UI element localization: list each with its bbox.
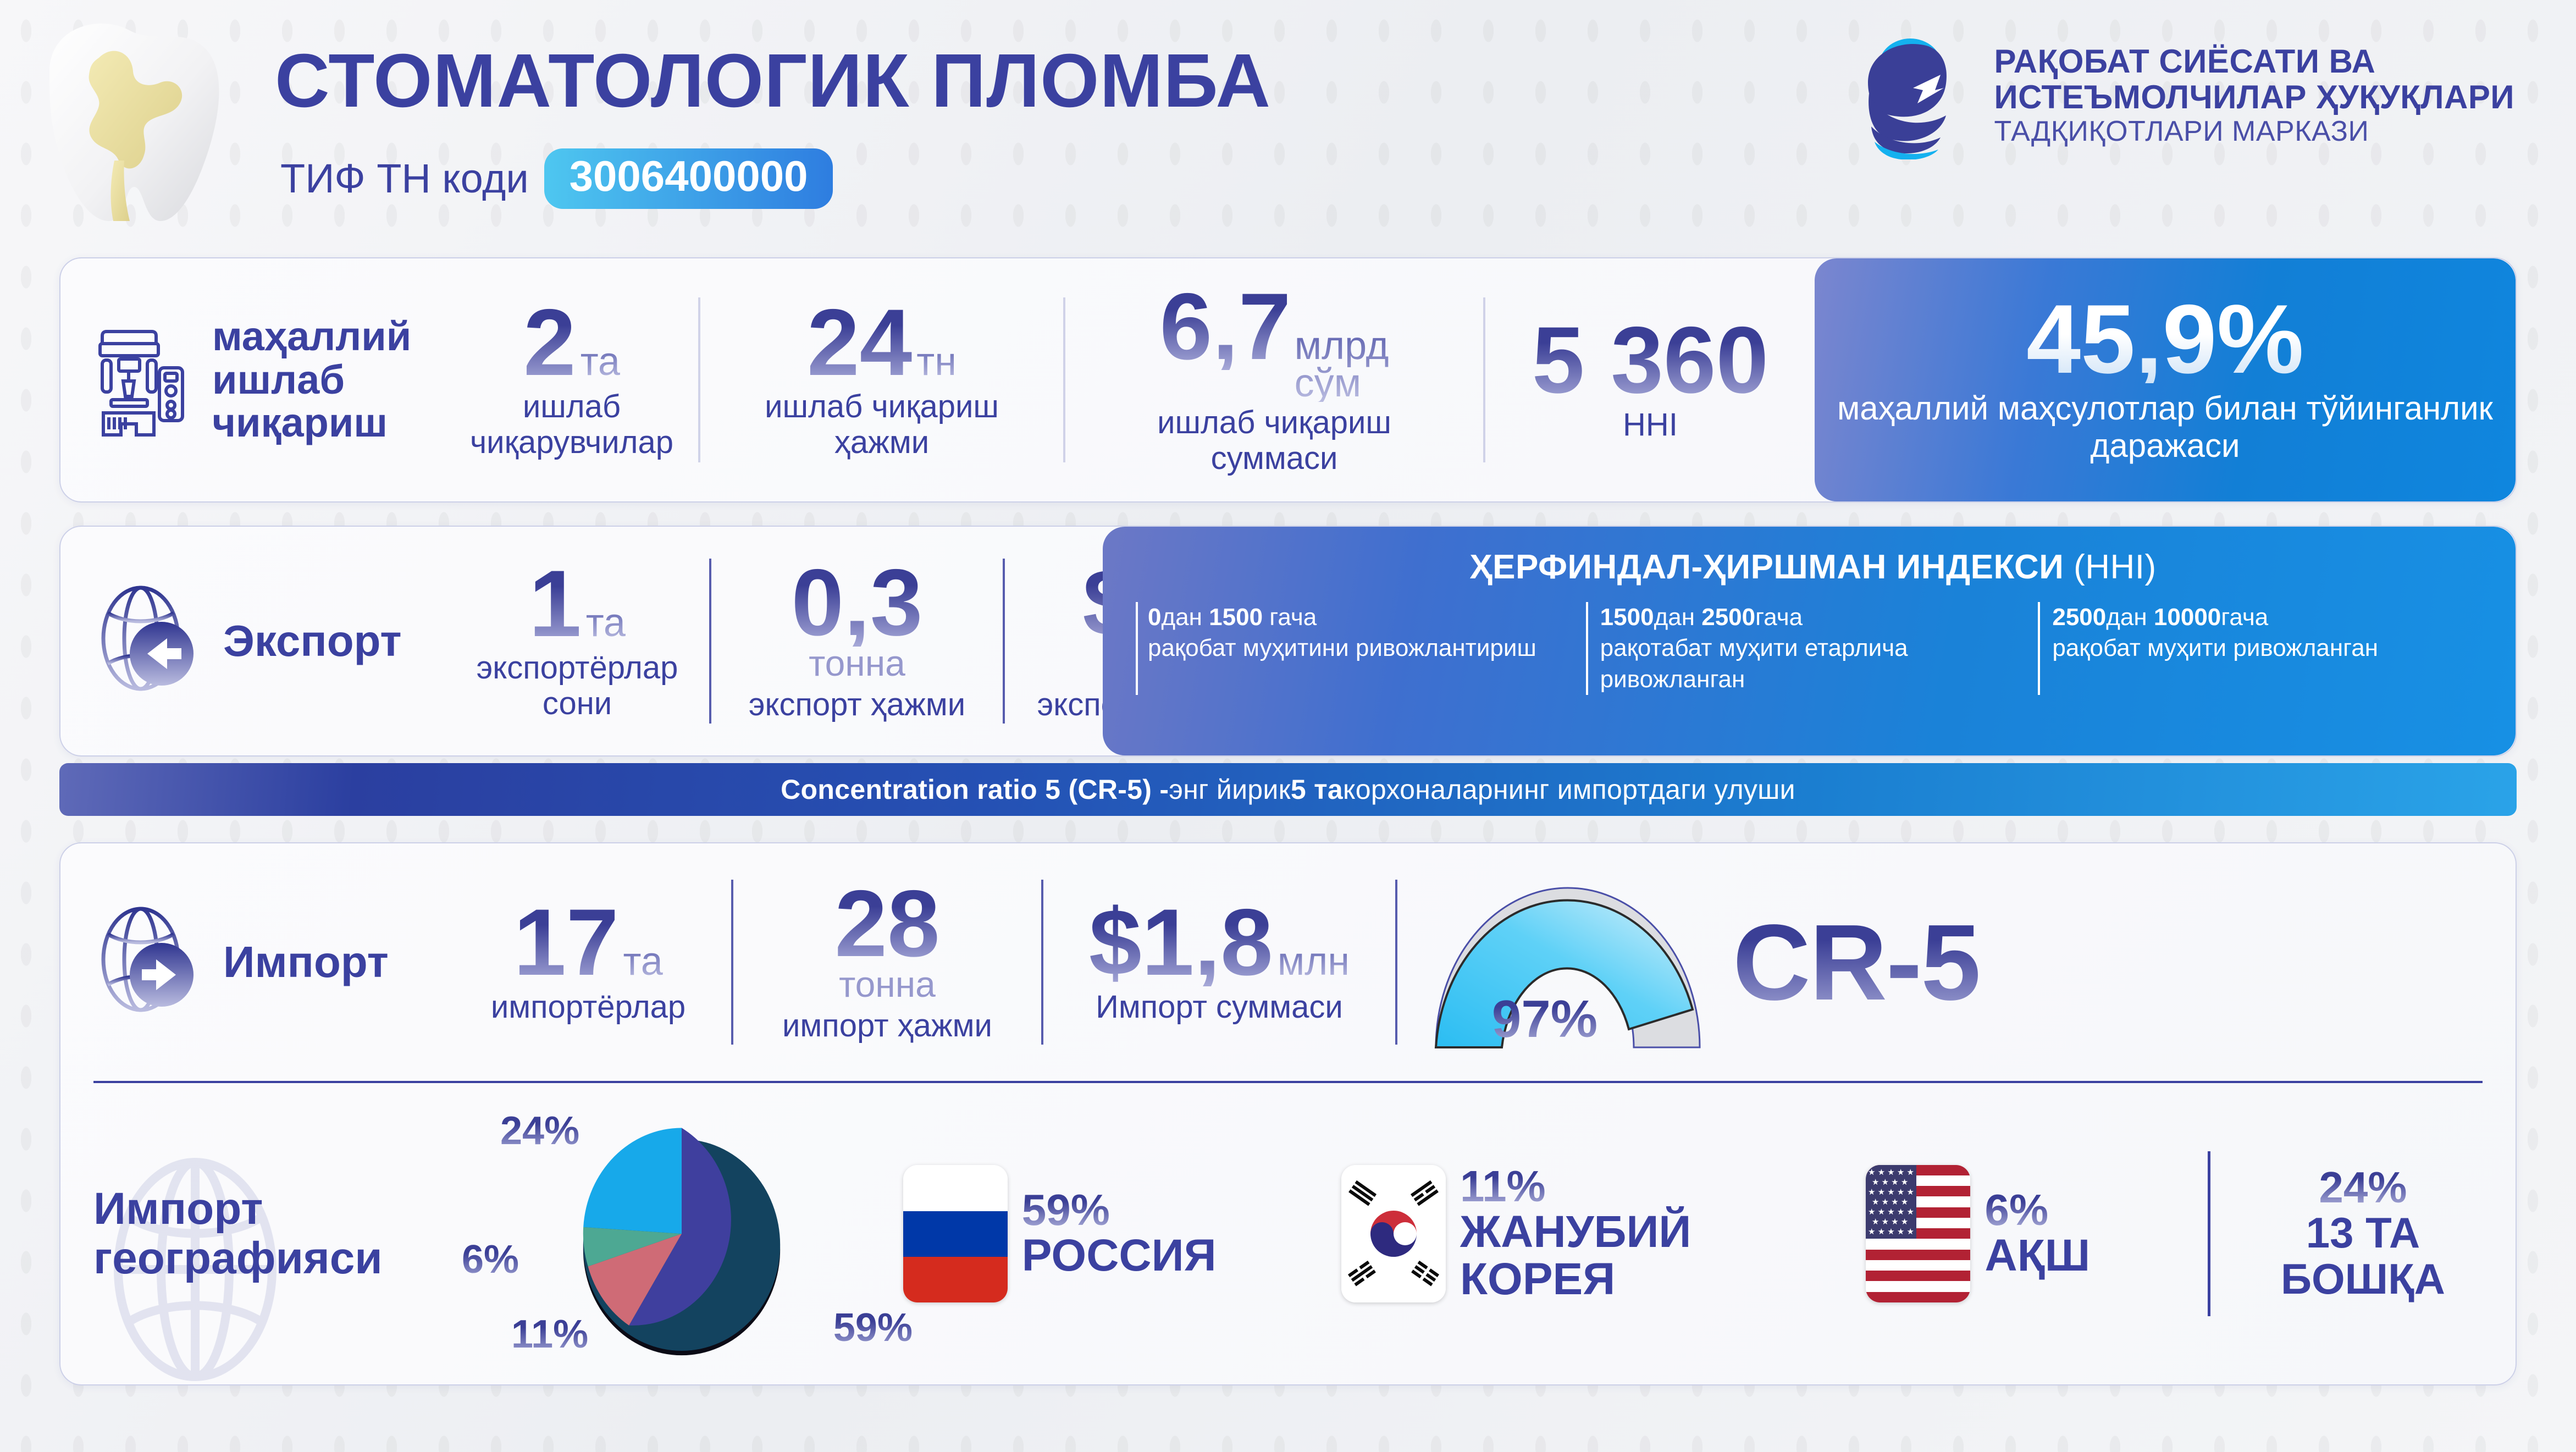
export-label: Экспорт <box>223 618 402 665</box>
globe-import-arrow-icon <box>95 904 204 1020</box>
divider <box>1483 297 1485 462</box>
saturation-value: 45,9% <box>2026 295 2304 383</box>
stat-export-volume: 0,3 тонна экспорт ҳажми <box>711 527 1003 755</box>
stat-prod-volume-unit: тн <box>916 344 957 380</box>
cr5-gauge: 97% <box>1419 871 1716 1053</box>
code-badge: 3006400000 <box>544 148 833 209</box>
svg-text:★ ★ ★ ★ ★: ★ ★ ★ ★ ★ <box>1868 1227 1914 1236</box>
pie-label-6: 6% <box>462 1237 519 1282</box>
russia-flag-icon <box>903 1165 1008 1302</box>
cr5-gauge-label: CR-5 <box>1733 901 1980 1024</box>
pie-label-24: 24% <box>500 1108 579 1153</box>
hhi-range-0-from: 0 <box>1148 604 1161 631</box>
stat-import-volume: 28 тонна импорт ҳажми <box>733 843 1041 1081</box>
svg-text:★ ★ ★ ★ ★: ★ ★ ★ ★ ★ <box>1868 1188 1914 1197</box>
stat-prod-sum: 6,7 млрд сўм ишлаб чиқариш суммаси <box>1065 258 1483 501</box>
divider <box>709 559 711 724</box>
import-label: Импорт <box>223 939 389 986</box>
stat-importers-unit: та <box>623 943 663 980</box>
hhi-legend-title-main: ҲЕРФИНДАЛ-ҲИРШМАН ИНДЕКСИ <box>1469 548 2064 586</box>
divider <box>731 880 733 1045</box>
stat-prod-sum-value: 6,7 <box>1159 283 1291 370</box>
page-title: СТОМАТОЛОГИК ПЛОМБА <box>275 43 1271 119</box>
cr5-gauge-value: 97% <box>1419 989 1670 1050</box>
code-label: ТИФ ТН коди <box>280 155 529 202</box>
import-label-block: Импорт <box>60 843 445 1081</box>
russia-percent: 59% <box>1022 1188 1217 1232</box>
cr5-banner-mid: энг йирик <box>1169 774 1290 805</box>
stat-importers-value: 17 <box>513 899 618 986</box>
cr5-banner-tail: корхоналарнинг импортдаги улуши <box>1343 774 1795 805</box>
geography-row: Импорт географияси <box>60 1083 2516 1384</box>
stat-importers-caption: импортёрлар <box>491 990 686 1025</box>
stat-prod-sum-unit: млрд <box>1295 327 1389 365</box>
stat-export-volume-unit: тонна <box>809 643 905 684</box>
stat-export-volume-caption: экспорт ҳажми <box>749 687 965 723</box>
brand-line-3: ТАДҚИҚОТЛАРИ МАРКАЗИ <box>1994 115 2514 148</box>
south-korea-name: ЖАНУБИЙ КОРЕЯ <box>1460 1208 1696 1303</box>
other-label: БОШҚА <box>2281 1256 2445 1302</box>
hhi-range-1-to: 2500 <box>1701 604 1755 631</box>
production-machine-icon <box>95 319 194 440</box>
brand-line-1: РАҚОБАТ СИЁСАТИ ВА <box>1994 44 2514 80</box>
stat-producers-value: 2 <box>523 299 576 386</box>
stat-prod-sum-unit2: сўм <box>1295 365 1389 402</box>
export-label-block: Экспорт <box>60 527 445 755</box>
stat-import-volume-caption: импорт ҳажми <box>782 1008 992 1044</box>
hhi-legend-title: ҲЕРФИНДАЛ-ҲИРШМАН ИНДЕКСИ (HHI) <box>1469 548 2156 587</box>
import-top-row: Импорт 17 та импортёрлар 28 тонна импорт… <box>60 843 2516 1081</box>
stat-producers: 2 та ишлаб чиқарувчилар <box>445 258 698 501</box>
country-russia: 59% РОССИЯ <box>830 1165 1289 1302</box>
hhi-range-2-desc: рақобат муҳити ривожланган <box>2052 633 2478 664</box>
cr5-banner-bold2: 5 та <box>1291 774 1343 805</box>
saturation-caption: маҳаллий маҳсулотлар билан тўйинганлик д… <box>1837 390 2494 465</box>
geography-title-line-1: Импорт <box>93 1184 383 1234</box>
country-south-korea: 11% ЖАНУБИЙ КОРЕЯ <box>1289 1164 1748 1303</box>
stat-exporters: 1 та экспортёрлар сони <box>445 527 709 755</box>
other-countries-block: 24% 13 ТА БОШҚА <box>2208 1151 2516 1316</box>
production-label-line-2: ишлаб <box>212 358 411 401</box>
stat-prod-volume-value: 24 <box>807 299 912 386</box>
production-label-line-3: чиқариш <box>212 401 411 444</box>
brand-line-2: ИСТЕЪМОЛЧИЛАР ҲУҚУҚЛАРИ <box>1994 80 2514 115</box>
stat-import-volume-value: 28 <box>834 880 939 967</box>
stat-prod-volume-caption: ишлаб чиқариш ҳажми <box>765 389 999 461</box>
usa-name: АҚШ <box>1984 1232 2090 1279</box>
divider <box>1041 880 1043 1045</box>
brand: РАҚОБАТ СИЁСАТИ ВА ИСТЕЪМОЛЧИЛАР ҲУҚУҚЛА… <box>1858 33 2514 159</box>
hhi-legend-title-abbr: (HHI) <box>2074 548 2157 586</box>
stat-hhi-value: 5 360 <box>1532 317 1768 404</box>
pie-label-59: 59% <box>833 1305 913 1350</box>
hhi-range-0-mid: дан <box>1161 604 1209 631</box>
production-label-line-1: маҳаллий <box>212 315 411 358</box>
hhi-range-0-to: 1500 <box>1209 604 1263 631</box>
stat-import-volume-unit: тонна <box>839 964 936 1005</box>
pie-chart-svg <box>563 1116 800 1352</box>
export-cells: Экспорт 1 та экспортёрлар сони 0,3 тонна… <box>60 527 2516 755</box>
stat-exporters-unit: та <box>586 605 626 641</box>
infographic-page: СТОМАТОЛОГИК ПЛОМБА ТИФ ТН коди 30064000… <box>0 0 2576 1452</box>
geography-title-line-2: географияси <box>93 1234 383 1283</box>
hhi-range-2-to: 10000 <box>2154 604 2221 631</box>
svg-text:★ ★ ★ ★: ★ ★ ★ ★ <box>1872 1217 1908 1227</box>
stat-export-volume-value: 0,3 <box>791 559 922 646</box>
hhi-range-0-suffix: гача <box>1263 604 1317 631</box>
hhi-range-1: 1500дан 2500гача рақотабат муҳити етарли… <box>1586 602 2038 695</box>
usa-flag-icon: ★ ★ ★ ★ ★★ ★ ★ ★ ★ ★ ★ ★ ★★ ★ ★ ★ ★ ★ ★ … <box>1866 1165 1970 1302</box>
hhi-range-0-desc: рақобат муҳитини ривожлантириш <box>1148 633 1574 664</box>
svg-text:★ ★ ★ ★: ★ ★ ★ ★ <box>1872 1178 1908 1187</box>
stat-exporters-caption: экспортёрлар сони <box>477 650 678 722</box>
tooth-with-filling-icon <box>16 5 253 225</box>
svg-text:★ ★ ★ ★ ★: ★ ★ ★ ★ ★ <box>1868 1207 1914 1217</box>
divider <box>1003 559 1005 724</box>
hhi-range-1-desc: рақотабат муҳити етарлича ривожланган <box>1600 633 2026 695</box>
hhi-range-0: 0дан 1500 гача рақобат муҳитини ривожлан… <box>1136 602 1586 695</box>
header: СТОМАТОЛОГИК ПЛОМБА ТИФ ТН коди 30064000… <box>0 0 2576 231</box>
code-row: ТИФ ТН коди 3006400000 <box>280 148 833 209</box>
cr5-gauge-cell: 97% CR-5 <box>1397 843 2167 1081</box>
hhi-range-2-suffix: гача <box>2221 604 2268 631</box>
stat-prod-sum-caption: ишлаб чиқариш суммаси <box>1157 405 1391 477</box>
production-cells: маҳаллий ишлаб чиқариш 2 та ишлаб чиқару… <box>60 258 2516 501</box>
hhi-range-2-from: 2500 <box>2052 604 2106 631</box>
stat-producers-unit: та <box>581 344 620 380</box>
export-card: Экспорт 1 та экспортёрлар сони 0,3 тонна… <box>59 526 2517 757</box>
pie-label-11: 11% <box>511 1312 588 1357</box>
stat-hhi-caption: HHI <box>1623 407 1678 443</box>
stat-import-sum-caption: Импорт суммаси <box>1096 990 1343 1025</box>
cr5-banner-bold: Concentration ratio 5 (CR-5) - <box>781 774 1169 805</box>
import-card: Импорт 17 та импортёрлар 28 тонна импорт… <box>59 842 2517 1385</box>
stat-importers: 17 та импортёрлар <box>445 843 731 1081</box>
other-percent: 24% <box>2319 1166 2407 1210</box>
south-korea-flag-icon <box>1341 1165 1446 1302</box>
country-usa: ★ ★ ★ ★ ★★ ★ ★ ★ ★ ★ ★ ★ ★★ ★ ★ ★ ★ ★ ★ … <box>1749 1165 2208 1302</box>
svg-text:★ ★ ★ ★: ★ ★ ★ ★ <box>1872 1197 1908 1207</box>
stat-import-sum-unit: млн <box>1278 943 1350 980</box>
hhi-ranges: 0дан 1500 гача рақобат муҳитини ривожлан… <box>1136 602 2490 695</box>
hhi-range-2: 2500дан 10000гача рақобат муҳити ривожла… <box>2038 602 2490 695</box>
stat-import-sum: $1,8 млн Импорт суммаси <box>1043 843 1395 1081</box>
divider <box>1395 880 1397 1045</box>
russia-name: РОССИЯ <box>1022 1232 1217 1279</box>
stat-prod-volume: 24 тн ишлаб чиқариш ҳажми <box>700 258 1063 501</box>
hhi-legend-panel: ҲЕРФИНДАЛ-ҲИРШМАН ИНДЕКСИ (HHI) 0дан 150… <box>1103 527 2516 755</box>
hhi-range-1-suffix: гача <box>1755 604 1803 631</box>
production-label-block: маҳаллий ишлаб чиқариш <box>60 258 445 501</box>
production-card: маҳаллий ишлаб чиқариш 2 та ишлаб чиқару… <box>59 257 2517 503</box>
cr5-banner: Concentration ratio 5 (CR-5) - энг йирик… <box>59 763 2517 816</box>
globe-export-arrow-icon <box>95 583 204 699</box>
hhi-range-2-mid: дан <box>2106 604 2154 631</box>
stat-producers-caption: ишлаб чиқарувчилар <box>470 389 673 461</box>
globe-swirl-logo-icon <box>1858 33 1974 159</box>
stat-hhi: 5 360 HHI <box>1485 258 1815 501</box>
stat-exporters-value: 1 <box>529 560 582 647</box>
import-pie-chart: 24% 6% 11% 59% <box>533 1118 830 1349</box>
divider <box>698 297 700 462</box>
local-saturation-panel: 45,9% маҳаллий маҳсулотлар билан тўйинга… <box>1815 258 2516 501</box>
other-count: 13 ТА <box>2306 1210 2420 1256</box>
divider <box>1063 297 1065 462</box>
svg-text:★ ★ ★ ★ ★: ★ ★ ★ ★ ★ <box>1868 1168 1914 1177</box>
hhi-range-1-from: 1500 <box>1600 604 1654 631</box>
south-korea-percent: 11% <box>1460 1164 1696 1208</box>
hhi-range-1-mid: дан <box>1654 604 1702 631</box>
stat-import-sum-value: $1,8 <box>1089 899 1273 986</box>
usa-percent: 6% <box>1984 1188 2090 1232</box>
